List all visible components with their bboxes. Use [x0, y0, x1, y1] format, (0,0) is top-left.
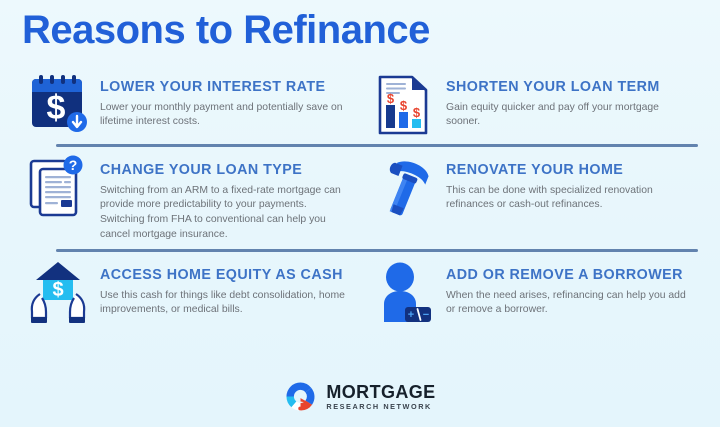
reason-text-block: RENOVATE YOUR HOME This can be done with…	[446, 155, 704, 213]
svg-text:$: $	[47, 89, 66, 127]
reason-heading: CHANGE YOUR LOAN TYPE	[100, 163, 370, 179]
reason-item-shorten-loan-term: $ $ $ SHORTEN YOUR LOAN TERM Gain equity…	[370, 72, 704, 138]
brand-name: MORTGAGE	[326, 383, 435, 401]
reason-heading: LOWER YOUR INTEREST RATE	[100, 80, 370, 96]
svg-text:$: $	[413, 105, 421, 120]
reason-body: This can be done with specialized renova…	[446, 184, 694, 214]
reasons-grid: $ LOWER YOUR INTEREST RATE Lower your mo…	[18, 72, 704, 326]
reason-item-lower-interest-rate: $ LOWER YOUR INTEREST RATE Lower your mo…	[18, 72, 370, 138]
reason-text-block: LOWER YOUR INTEREST RATE Lower your mont…	[100, 72, 370, 130]
row-divider-2	[56, 249, 698, 252]
row-divider-1	[56, 144, 698, 147]
reason-heading: ADD OR REMOVE A BORROWER	[446, 268, 704, 284]
gauge-logo-icon	[284, 380, 317, 413]
reason-item-renovate-home: RENOVATE YOUR HOME This can be done with…	[370, 155, 704, 221]
reason-text-block: ACCESS HOME EQUITY AS CASH Use this cash…	[100, 260, 370, 318]
documents-question-icon: ?	[26, 155, 90, 221]
brand-tagline: RESEARCH NETWORK	[326, 403, 435, 410]
document-bar-chart-dollar-icon: $ $ $	[372, 72, 436, 138]
reason-heading: RENOVATE YOUR HOME	[446, 163, 704, 179]
svg-text:$: $	[400, 98, 408, 113]
brand-text: MORTGAGE RESEARCH NETWORK	[326, 383, 435, 410]
svg-text:?: ?	[69, 157, 78, 173]
svg-text:$: $	[52, 279, 63, 301]
reason-body: Switching from an ARM to a fixed-rate mo…	[100, 184, 352, 243]
reason-item-add-remove-borrower: + − ADD OR REMOVE A BORROWER When the ne…	[370, 260, 704, 326]
reason-item-change-loan-type: ? CHANGE YOUR LOAN TYPE Switching from a…	[18, 155, 370, 243]
reason-body: Use this cash for things like debt conso…	[100, 289, 352, 319]
reason-heading: ACCESS HOME EQUITY AS CASH	[100, 268, 370, 284]
footer-brand: MORTGAGE RESEARCH NETWORK	[0, 380, 720, 413]
house-dollar-hands-icon: $	[26, 260, 90, 326]
page-title: Reasons to Refinance	[22, 8, 430, 52]
infographic-page: Reasons to Refinance $	[0, 0, 720, 427]
svg-text:$: $	[387, 91, 395, 106]
reason-text-block: ADD OR REMOVE A BORROWER When the need a…	[446, 260, 704, 318]
reasons-row-2: ? CHANGE YOUR LOAN TYPE Switching from a…	[18, 155, 704, 243]
hammer-icon	[372, 155, 436, 221]
calendar-dollar-down-icon: $	[26, 72, 90, 138]
reasons-row-3: $ ACCESS HOME EQUITY AS CASH Use this ca…	[18, 260, 704, 326]
reasons-row-1: $ LOWER YOUR INTEREST RATE Lower your mo…	[18, 72, 704, 138]
svg-text:+: +	[408, 309, 414, 321]
reason-text-block: CHANGE YOUR LOAN TYPE Switching from an …	[100, 155, 370, 243]
svg-text:−: −	[423, 309, 429, 321]
person-plus-minus-icon: + −	[372, 260, 436, 326]
reason-body: When the need arises, refinancing can he…	[446, 289, 694, 319]
reason-body: Lower your monthly payment and potential…	[100, 101, 352, 131]
reason-item-access-home-equity: $ ACCESS HOME EQUITY AS CASH Use this ca…	[18, 260, 370, 326]
reason-body: Gain equity quicker and pay off your mor…	[446, 101, 694, 131]
reason-text-block: SHORTEN YOUR LOAN TERM Gain equity quick…	[446, 72, 704, 130]
reason-heading: SHORTEN YOUR LOAN TERM	[446, 80, 704, 96]
